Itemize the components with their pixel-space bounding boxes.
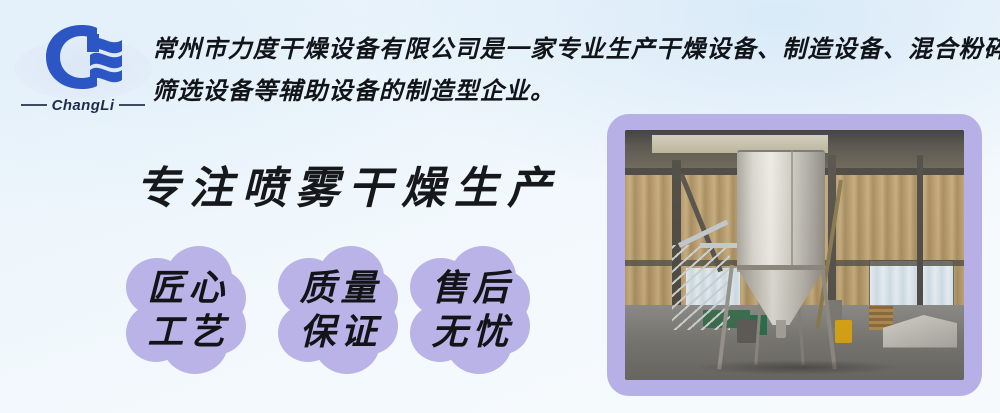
feature-badge[interactable]: 售后 无忧	[410, 246, 530, 374]
badge-text: 匠心 工艺	[126, 246, 246, 374]
feature-badge[interactable]: 质量 保证	[278, 246, 398, 374]
badge-line-2: 无忧	[426, 310, 513, 354]
logo-wordmark-text: ChangLi	[52, 97, 115, 114]
feature-badge[interactable]: 匠心 工艺	[126, 246, 246, 374]
logo-dash-right	[119, 104, 145, 106]
badge-line-2: 工艺	[142, 310, 229, 354]
badge-line-1: 质量	[294, 266, 381, 310]
company-intro-line-2: 筛选设备等辅助设备的制造型企业。	[152, 70, 992, 112]
badge-line-2: 保证	[294, 310, 381, 354]
headline-slogan: 专注喷雾干燥生产	[136, 163, 560, 215]
feature-badge-group: 匠心 工艺 质量 保证	[126, 246, 546, 376]
badge-text: 质量 保证	[278, 246, 398, 374]
logo-dash-left	[21, 104, 47, 106]
product-photo-frame	[607, 114, 982, 396]
promo-banner: ChangLi 常州市力度干燥设备有限公司是一家专业生产干燥设备、制造设备、混合…	[0, 0, 1000, 413]
product-photo	[625, 130, 964, 380]
company-logo[interactable]: ChangLi	[8, 14, 158, 118]
changli-wave-c-icon	[30, 20, 134, 92]
logo-wordmark: ChangLi	[8, 94, 158, 116]
badge-line-1: 匠心	[142, 266, 229, 310]
badge-text: 售后 无忧	[410, 246, 530, 374]
badge-line-1: 售后	[426, 266, 513, 310]
company-intro-line-1: 常州市力度干燥设备有限公司是一家专业生产干燥设备、制造设备、混合粉碎	[152, 28, 992, 70]
company-intro: 常州市力度干燥设备有限公司是一家专业生产干燥设备、制造设备、混合粉碎 筛选设备等…	[152, 28, 992, 112]
